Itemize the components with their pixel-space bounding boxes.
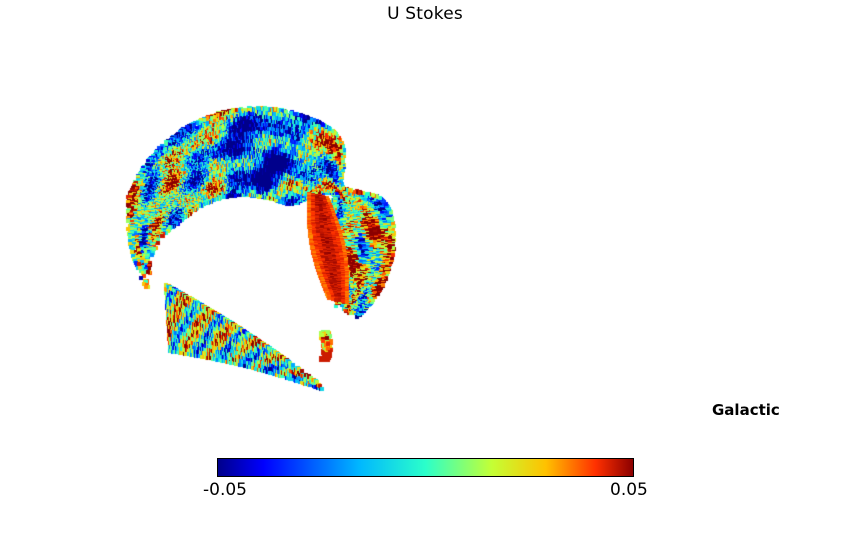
coordinate-system-label: Galactic	[712, 401, 780, 419]
colorbar-max-label: 0.05	[610, 480, 648, 500]
colorbar-gradient	[217, 458, 634, 477]
healpix-map-figure: U Stokes Galactic -0.05 0.05	[0, 0, 850, 540]
colorbar	[217, 458, 634, 477]
colorbar-min-label: -0.05	[203, 480, 247, 500]
